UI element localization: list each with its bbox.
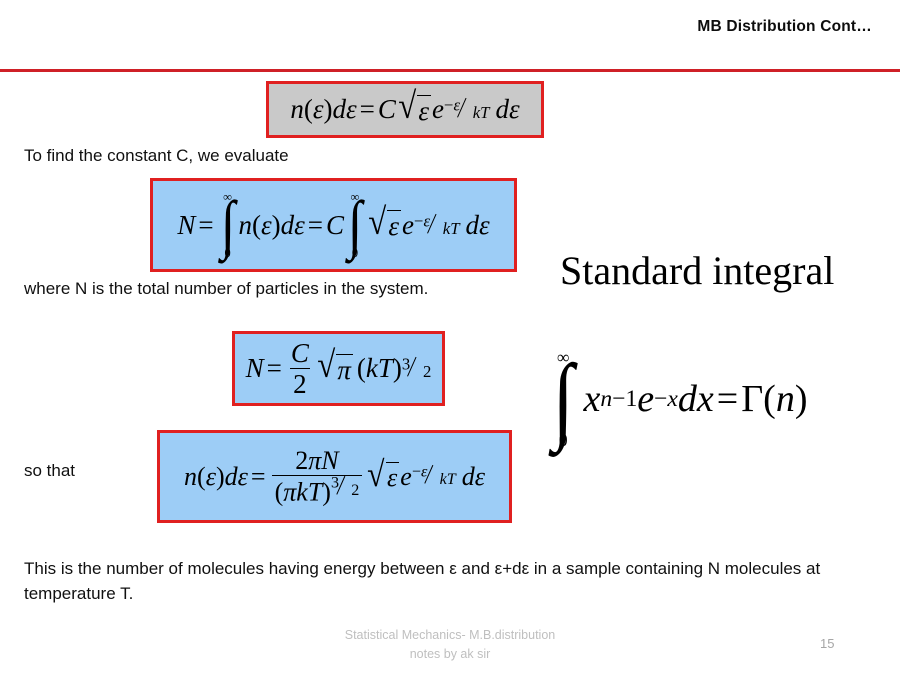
text-where-n-definition: where N is the total number of particles… (24, 277, 428, 302)
page-number: 15 (820, 636, 834, 651)
eq4-n: n (184, 462, 197, 492)
eq3-exponent-three-halves: 32 (402, 358, 431, 379)
eq4-sqrt-radicand: ε (386, 462, 399, 493)
gamma-x: x (584, 377, 601, 421)
eq2-exp-T: T (450, 219, 459, 238)
eq4-exponent: −εkT (412, 466, 456, 486)
footer-note: Statistical Mechanics- M.B.distribution … (0, 626, 900, 664)
gamma-lparen: ( (763, 377, 776, 421)
gamma-e: e (637, 377, 654, 421)
eq1-equals: = (357, 94, 378, 125)
eq4-fraction: 2πN (πkT)32 (272, 447, 363, 506)
slide-title: MB Distribution Cont… (697, 18, 872, 36)
eq2-d-2: d (466, 210, 480, 241)
standard-integral-equation: ∞ ∫ 0 xn−1e−xdx = Γ(n) (548, 330, 807, 450)
eq2-eps-2: ε (294, 210, 305, 241)
integral-sign-icon: ∫ (220, 201, 234, 249)
gamma-d: d (678, 377, 697, 421)
text-conclusion: This is the number of molecules having e… (24, 557, 886, 606)
eq1-lparen: ( (304, 94, 313, 125)
eq2-d-1: d (281, 210, 295, 241)
eq3-rparen: ) (393, 353, 402, 384)
eq2-sqrt: √ε (367, 208, 401, 243)
eq2-rparen: ) (272, 210, 281, 241)
eq3-N: N (246, 353, 264, 384)
eq1-C: C (378, 94, 396, 125)
eq4-equals: = (248, 462, 269, 492)
eq4-exp-T: T (447, 471, 456, 488)
eq1-exponent: −εkT (444, 99, 490, 120)
eq2-exponent: −εkT (414, 215, 460, 236)
eq1-d: d (333, 94, 347, 125)
eq1-exp-T: T (480, 103, 489, 122)
eq2-eps-1: ε (261, 210, 272, 241)
radical-icon: √ (398, 91, 416, 126)
eq4-num-pi: π (308, 446, 321, 475)
eq1-epsilon: ε (313, 94, 324, 125)
equation-3-math: N = C 2 √π (kT)32 (246, 339, 432, 398)
footer-line-2: notes by ak sir (0, 645, 900, 664)
eq3-sqrt-radicand: π (336, 354, 353, 386)
eq2-integral-1: ∞ ∫ 0 (219, 191, 237, 260)
eq2-equals-1: = (195, 210, 216, 241)
eq4-exp-minus: − (412, 464, 421, 481)
eq4-den-k: k (296, 478, 308, 507)
eq4-e: e (400, 462, 412, 492)
eq1-sqrt-radicand: ε (417, 95, 431, 127)
eq4-d-2: d (462, 462, 475, 492)
text-so-that: so that (24, 459, 75, 484)
eq2-C: C (326, 210, 344, 241)
radical-icon: √ (368, 207, 386, 242)
integral-sign-icon: ∫ (553, 363, 574, 435)
eq3-k: k (366, 353, 378, 384)
radical-icon: √ (317, 350, 335, 385)
standard-integral-title: Standard integral (560, 247, 834, 294)
integral-sign-icon: ∫ (348, 201, 362, 249)
eq4-den-lparen: ( (275, 478, 284, 507)
eq4-eps-3: ε (475, 462, 485, 492)
eq3-sqrt: √π (316, 351, 353, 386)
eq4-sqrt: √ε (366, 460, 399, 494)
eq1-epsilon-2: ε (346, 94, 357, 125)
eq3-frac-denominator: 2 (290, 368, 310, 398)
eq4-den-T: T (308, 478, 322, 507)
eq2-e: e (402, 210, 414, 241)
gamma-exp-n: n (600, 386, 612, 412)
eq4-num-two: 2 (295, 446, 308, 475)
equation-1-math: n(ε)dε = C √εe−εkT dε (290, 92, 519, 127)
eq4-den-exp-den: 2 (351, 483, 359, 499)
eq4-rparen: ) (216, 462, 225, 492)
eq2-n: n (239, 210, 253, 241)
eq4-den-pi: π (283, 478, 296, 507)
radical-icon: √ (368, 459, 385, 493)
gamma-equals: = (714, 377, 741, 421)
gamma-e-exp-minus: − (654, 386, 667, 412)
footer-line-1: Statistical Mechanics- M.B.distribution (0, 626, 900, 645)
eq4-eps-2: ε (238, 462, 248, 492)
equation-box-final-distribution: n(ε)dε = 2πN (πkT)32 √εe−εkT dε (157, 430, 512, 523)
equation-box-constant-solution: N = C 2 √π (kT)32 (232, 331, 445, 406)
eq3-T: T (378, 353, 393, 384)
eq1-d-2: d (495, 94, 509, 125)
eq3-equals: = (264, 353, 285, 384)
eq4-lparen: ( (197, 462, 206, 492)
eq2-lparen: ( (252, 210, 261, 241)
eq3-lparen: ( (357, 353, 366, 384)
gamma-exp-one: 1 (625, 386, 637, 412)
eq1-sqrt: √ε (397, 92, 431, 127)
eq4-den-rparen: ) (322, 478, 331, 507)
gamma-e-exp-x: x (667, 386, 677, 412)
standard-integral-math: ∞ ∫ 0 xn−1e−xdx = Γ(n) (548, 349, 807, 450)
gamma-dx-x: x (697, 377, 714, 421)
eq2-equals-2: = (305, 210, 326, 241)
eq3-exp-den: 2 (423, 364, 431, 381)
gamma-rparen: ) (795, 377, 808, 421)
eq1-epsilon-3: ε (509, 94, 520, 125)
eq1-n: n (290, 94, 304, 125)
gamma-integral: ∞ ∫ 0 (550, 349, 577, 450)
equation-2-math: N = ∞ ∫ 0 n(ε)dε = C ∞ ∫ 0 √εe−εkT dε (177, 191, 489, 260)
header-divider-rule (0, 69, 900, 72)
equation-box-distribution: n(ε)dε = C √εe−εkT dε (266, 81, 544, 138)
equation-4-math: n(ε)dε = 2πN (πkT)32 √εe−εkT dε (184, 447, 485, 506)
eq4-frac-numerator: 2πN (292, 447, 341, 475)
eq2-N: N (177, 210, 195, 241)
text-find-constant: To find the constant C, we evaluate (24, 144, 289, 169)
gamma-arg-n: n (776, 377, 795, 421)
eq4-denominator-exponent: 32 (331, 477, 359, 497)
eq2-sqrt-radicand: ε (387, 210, 401, 242)
gamma-exp-minus: − (612, 386, 625, 412)
eq3-frac-numerator: C (288, 339, 312, 368)
eq1-rparen: ) (324, 94, 333, 125)
eq2-integral-2: ∞ ∫ 0 (346, 191, 364, 260)
gamma-symbol: Γ (741, 377, 763, 421)
eq2-eps-3: ε (479, 210, 490, 241)
eq4-d-1: d (225, 462, 238, 492)
eq4-frac-denominator: (πkT)32 (272, 475, 363, 506)
eq4-eps-1: ε (206, 462, 216, 492)
eq1-e: e (432, 94, 444, 125)
equation-box-normalization: N = ∞ ∫ 0 n(ε)dε = C ∞ ∫ 0 √εe−εkT dε (150, 178, 517, 272)
eq4-num-N: N (321, 446, 338, 475)
eq3-fraction-C-over-2: C 2 (288, 339, 312, 398)
